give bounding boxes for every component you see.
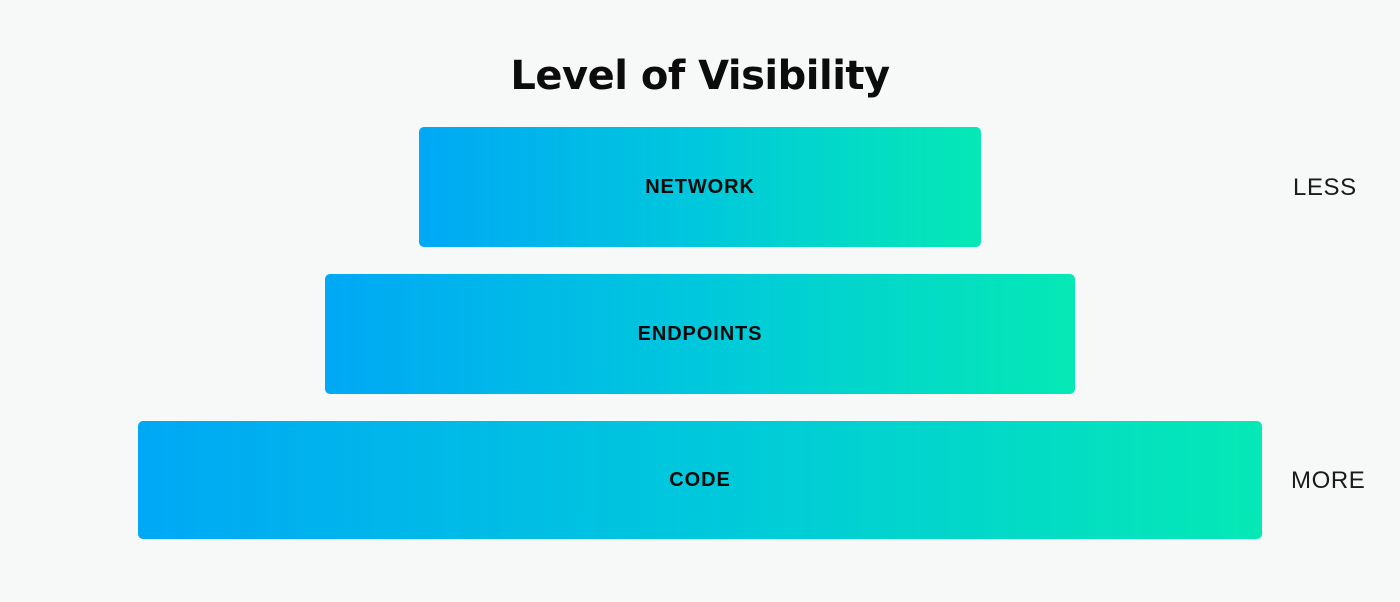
tier-label-code: CODE (669, 469, 730, 492)
tier-row-endpoints: ENDPOINTS (0, 274, 1400, 394)
chart-title: Level of Visibility (0, 48, 1400, 104)
tier-row-network: NETWORK (0, 127, 1400, 247)
tier-label-network: NETWORK (645, 176, 755, 199)
tier-bar-code[interactable]: CODE (138, 421, 1262, 539)
tier-bar-endpoints[interactable]: ENDPOINTS (325, 274, 1075, 394)
visibility-pyramid-figure: Level of Visibility NETWORK ENDPOINTS CO… (0, 0, 1400, 602)
pyramid-stack: NETWORK ENDPOINTS CODE (0, 127, 1400, 539)
tier-label-endpoints: ENDPOINTS (638, 323, 763, 346)
scale-label-more: MORE (1291, 466, 1365, 496)
tier-row-code: CODE (0, 421, 1400, 539)
scale-label-less: LESS (1293, 173, 1357, 203)
tier-bar-network[interactable]: NETWORK (419, 127, 981, 247)
